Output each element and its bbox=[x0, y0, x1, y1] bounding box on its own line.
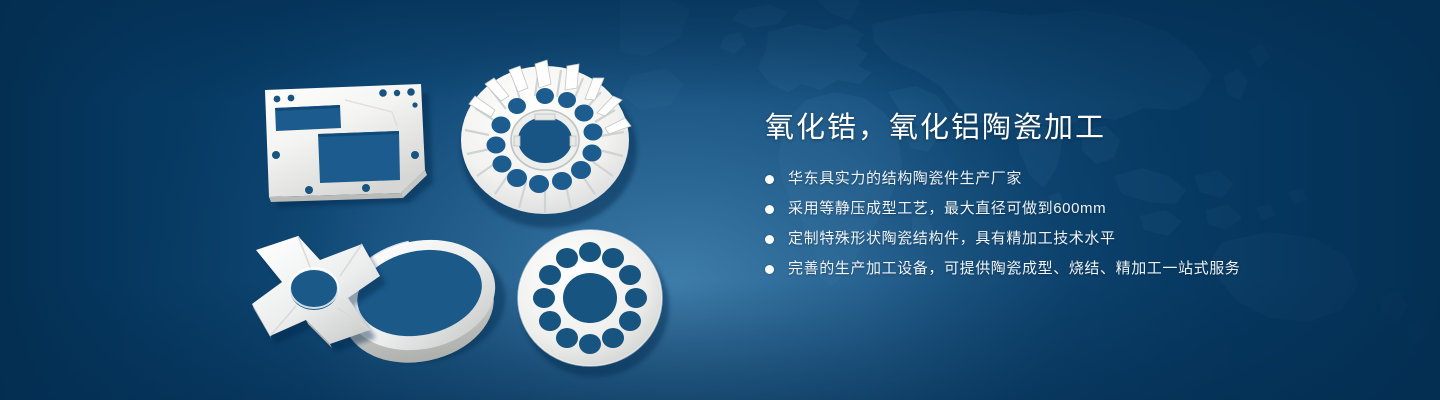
feature-text: 完善的生产加工设备，可提供陶瓷成型、烧结、精加工一站式服务 bbox=[788, 258, 1240, 280]
ceramic-mounting-plate-shape bbox=[40, 10, 433, 207]
bullet-dot-icon bbox=[765, 235, 774, 244]
feature-list: 华东具实力的结构陶瓷件生产厂家 采用等静压成型工艺，最大直径可做到600mm 定… bbox=[765, 168, 1385, 280]
list-item: 定制特殊形状陶瓷结构件，具有精加工技术水平 bbox=[765, 228, 1385, 250]
banner-copy: 氧化锆，氧化铝陶瓷加工 华东具实力的结构陶瓷件生产厂家 采用等静压成型工艺，最大… bbox=[765, 108, 1385, 288]
bullet-dot-icon bbox=[765, 265, 774, 274]
list-item: 完善的生产加工设备，可提供陶瓷成型、烧结、精加工一站式服务 bbox=[765, 258, 1385, 280]
ceramic-products-image bbox=[0, 0, 720, 400]
bullet-dot-icon bbox=[765, 175, 774, 184]
page-title: 氧化锆，氧化铝陶瓷加工 bbox=[765, 108, 1385, 148]
feature-text: 华东具实力的结构陶瓷件生产厂家 bbox=[788, 168, 1022, 190]
bullet-dot-icon bbox=[765, 205, 774, 214]
ceramic-processing-banner: 氧化锆，氧化铝陶瓷加工 华东具实力的结构陶瓷件生产厂家 采用等静压成型工艺，最大… bbox=[0, 0, 1440, 400]
list-item: 采用等静压成型工艺，最大直径可做到600mm bbox=[765, 198, 1385, 220]
ceramic-impeller-wheel-shape bbox=[461, 60, 637, 228]
ceramic-perforated-disc-shape bbox=[518, 230, 669, 377]
feature-text: 采用等静压成型工艺，最大直径可做到600mm bbox=[788, 198, 1106, 220]
feature-text: 定制特殊形状陶瓷结构件，具有精加工技术水平 bbox=[788, 228, 1116, 250]
ceramic-cross-blade-shape bbox=[252, 236, 386, 352]
list-item: 华东具实力的结构陶瓷件生产厂家 bbox=[765, 168, 1385, 190]
